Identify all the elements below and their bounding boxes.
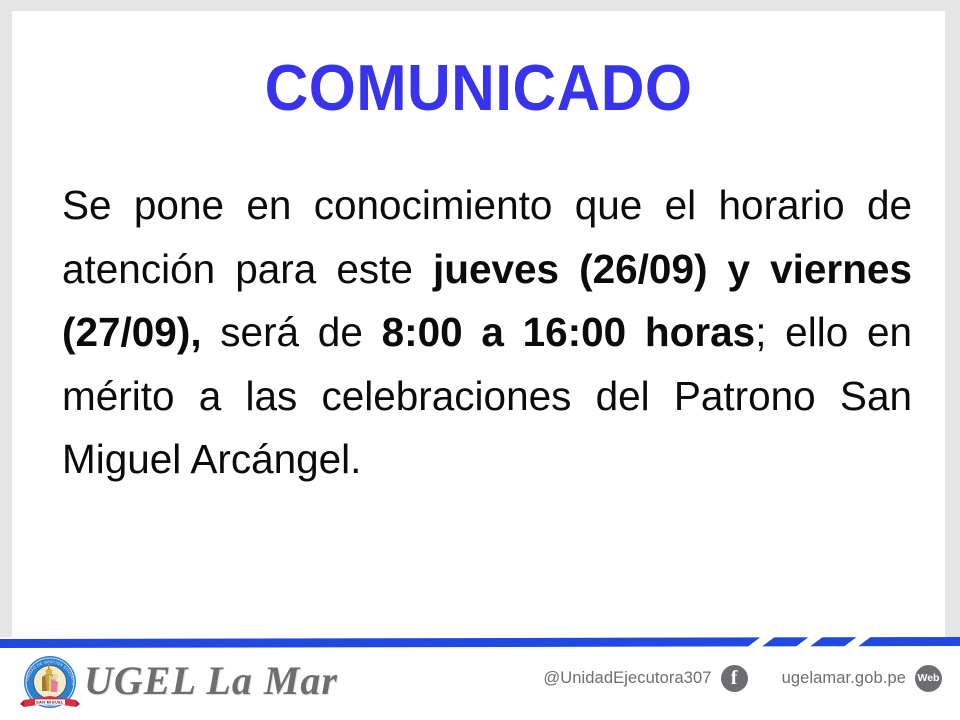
- body-segment-4-bold: 8:00 a 16:00 horas: [382, 309, 756, 355]
- announcement-page: COMUNICADO Se pone en conocimiento que e…: [12, 11, 945, 637]
- body-segment-3: será de: [202, 309, 382, 355]
- web-icon[interactable]: Web: [915, 665, 942, 692]
- body-block: Se pone en conocimiento que el horario d…: [62, 174, 912, 492]
- facebook-icon-glyph: f: [731, 668, 738, 688]
- web-icon-glyph: Web: [918, 673, 940, 684]
- announcement-body-text: Se pone en conocimiento que el horario d…: [62, 174, 912, 492]
- svg-text:SAN MIGUEL: SAN MIGUEL: [36, 701, 64, 705]
- slide-footer: UNIDAD DE GESTION EDUCATIVA LOCAL LA MAR: [0, 637, 960, 720]
- slide-canvas: COMUNICADO Se pone en conocimiento que e…: [0, 0, 960, 720]
- contact-facebook[interactable]: @UnidadEjecutora307 f: [543, 665, 747, 692]
- ugel-logo-seal: UNIDAD DE GESTION EDUCATIVA LOCAL LA MAR: [18, 651, 82, 717]
- footer-divider-rule: [0, 637, 960, 651]
- brand-wordmark: UGEL La Mar: [84, 659, 338, 703]
- title-block: COMUNICADO: [12, 55, 945, 120]
- contact-website[interactable]: ugelamar.gob.pe Web: [782, 665, 942, 692]
- website-url-label: ugelamar.gob.pe: [782, 669, 906, 688]
- facebook-icon[interactable]: f: [721, 665, 748, 692]
- page-title: COMUNICADO: [45, 55, 913, 120]
- footer-contact-cluster: @UnidadEjecutora307 f ugelamar.gob.pe We…: [543, 665, 942, 692]
- facebook-handle-label: @UnidadEjecutora307: [543, 669, 711, 688]
